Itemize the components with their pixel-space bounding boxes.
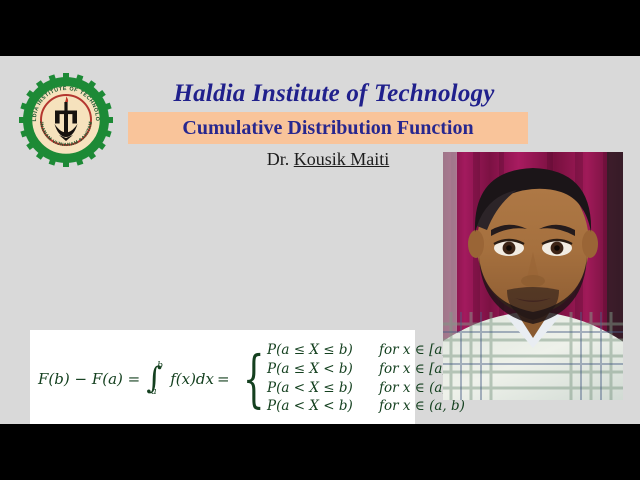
- formula-panel: F(b) − F(a) = b ∫ a f(x)dx = { P(a ≤ X ≤…: [30, 330, 415, 424]
- case-row: P(a < X < b) for x ∈ (a, b): [267, 398, 465, 416]
- case-row: P(a ≤ X ≤ b) for x ∈ [a, b]: [267, 342, 465, 360]
- integrand: f(x)dx: [170, 370, 214, 388]
- institute-title: Haldia Institute of Technology: [128, 80, 540, 108]
- case-probability: P(a < X < b): [267, 398, 371, 416]
- presenter-webcam-overlay: presenter webcam feed: [443, 152, 623, 400]
- lecture-slide: HALDIA INSTITUTE OF TECHNOLOGY JNANAM VI…: [0, 56, 640, 424]
- presenter-name: Kousik Maiti: [294, 149, 390, 169]
- integral-lower-limit: a: [151, 387, 156, 397]
- video-player-frame: HALDIA INSTITUTE OF TECHNOLOGY JNANAM VI…: [0, 0, 640, 480]
- topic-title: Cumulative Distribution Function: [182, 117, 473, 140]
- case-probability: P(a ≤ X ≤ b): [267, 342, 371, 360]
- presenter-prefix: Dr.: [267, 149, 294, 169]
- case-probability: P(a < X ≤ b): [267, 380, 371, 398]
- letterbox-bar-bottom: [0, 424, 640, 480]
- cases-group: { P(a ≤ X ≤ b) for x ∈ [a, b] P(a ≤ X < …: [234, 342, 465, 415]
- left-brace-icon: {: [242, 355, 264, 403]
- formula-left-side: F(b) − F(a) = b ∫ a f(x)dx =: [38, 362, 230, 396]
- case-probability: P(a ≤ X < b): [267, 361, 371, 379]
- formula-lhs-text: F(b) − F(a) =: [38, 370, 140, 388]
- cases-list: P(a ≤ X ≤ b) for x ∈ [a, b] P(a ≤ X < b)…: [267, 342, 465, 415]
- institute-logo: HALDIA INSTITUTE OF TECHNOLOGY JNANAM VI…: [18, 72, 114, 168]
- case-row: P(a ≤ X < b) for x ∈ [a, b): [267, 361, 465, 379]
- integral-symbol: b ∫ a: [144, 362, 166, 396]
- formula-equals: =: [217, 370, 230, 388]
- case-condition: for x ∈ (a, b): [371, 398, 465, 416]
- letterbox-bar-top: [0, 0, 640, 56]
- topic-banner: Cumulative Distribution Function: [128, 112, 528, 144]
- case-row: P(a < X ≤ b) for x ∈ (a, b]: [267, 380, 465, 398]
